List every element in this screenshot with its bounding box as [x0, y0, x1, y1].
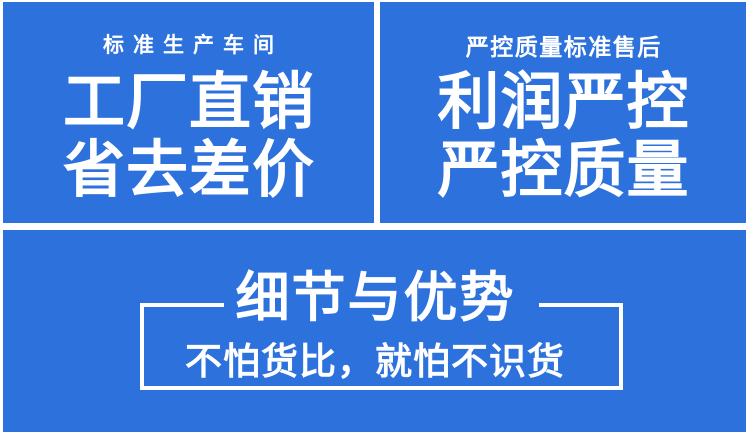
promo-banner: 标准生产车间 工厂直销 省去差价 严控质量标准售后 利润严控 严控质量 细节与优… — [0, 0, 750, 440]
left-panel-eyebrow: 标准生产车间 — [3, 29, 374, 59]
bottom-panel-title: 细节与优势 — [3, 271, 746, 325]
right-panel-eyebrow: 严控质量标准售后 — [380, 28, 746, 62]
right-panel-headline-line1: 利润严控 — [380, 72, 746, 134]
panel-details-advantages: 细节与优势 不怕货比，就怕不识货 — [3, 230, 746, 432]
left-panel-headline-line2: 省去差价 — [3, 140, 374, 202]
panel-quality-control: 严控质量标准售后 利润严控 严控质量 — [380, 2, 746, 223]
panel-factory-direct: 标准生产车间 工厂直销 省去差价 — [3, 2, 374, 223]
right-panel-headline-line2: 严控质量 — [380, 140, 746, 202]
frame-bottom-edge — [140, 386, 623, 390]
bottom-panel-subtitle: 不怕货比，就怕不识货 — [3, 343, 746, 380]
left-panel-headline-line1: 工厂直销 — [3, 72, 374, 134]
